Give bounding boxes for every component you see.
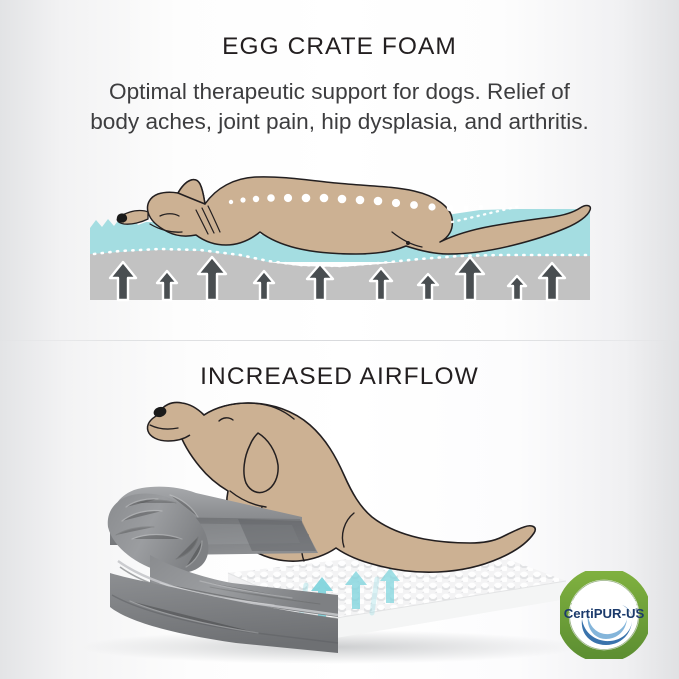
section-subtitle-egg-crate-foam: Optimal therapeutic support for dogs. Re… <box>0 77 679 137</box>
section-title-increased-airflow: INCREASED AIRFLOW <box>0 363 679 391</box>
badge-registered-mark: ® <box>635 607 638 612</box>
section-egg-crate-foam: EGG CRATE FOAM Optimal therapeutic suppo… <box>0 0 679 341</box>
subtitle-line-1: Optimal therapeutic support for dogs. Re… <box>0 77 679 107</box>
badge-brand-text: CertiPUR-US <box>564 606 645 621</box>
certipur-us-badge: CONTAINS CERTIFIED FLEXIBLE POLYURETHANE… <box>560 571 648 659</box>
subtitle-line-2: body aches, joint pain, hip dysplasia, a… <box>0 107 679 137</box>
badge-wordmark: CertiPUR-US ® <box>564 606 645 621</box>
dog-nose <box>117 213 127 222</box>
section-title-egg-crate-foam: EGG CRATE FOAM <box>0 33 679 61</box>
illustration-dog-on-foam-cross-section <box>0 150 679 325</box>
product-infographic: EGG CRATE FOAM Optimal therapeutic suppo… <box>0 0 679 679</box>
